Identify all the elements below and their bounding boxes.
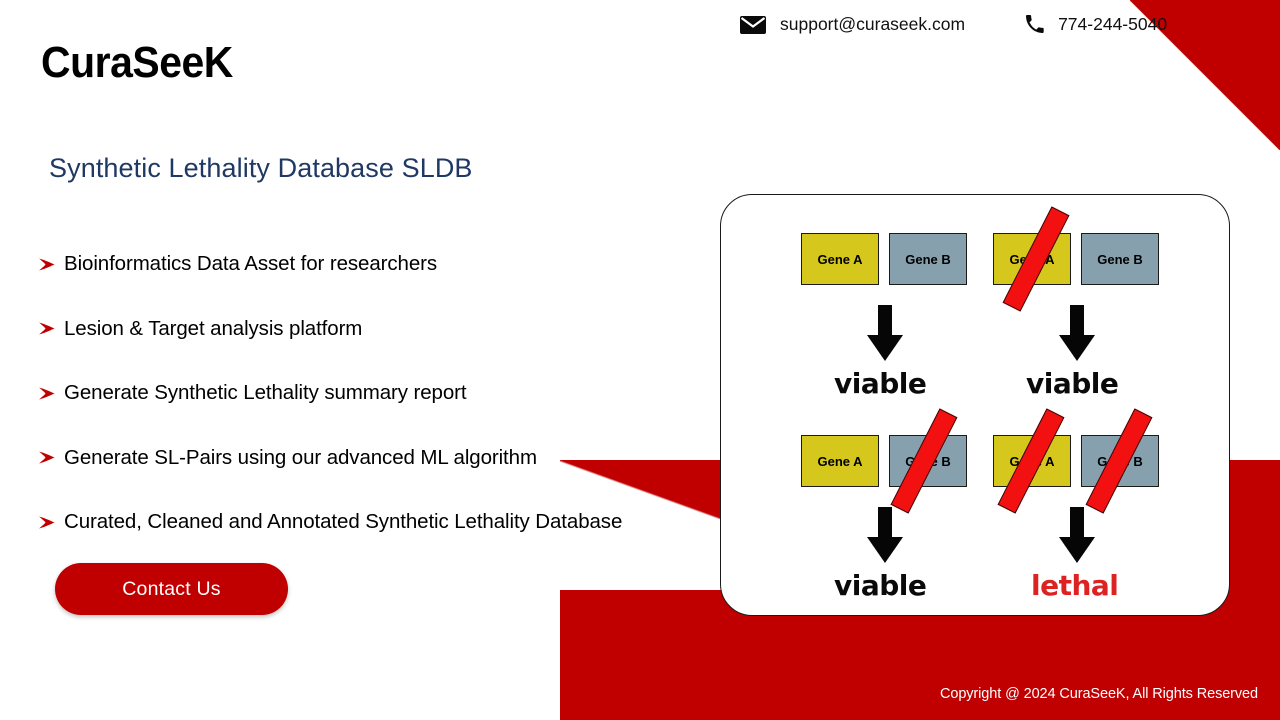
list-item-label: Curated, Cleaned and Annotated Synthetic… [64, 510, 622, 534]
contact-us-button[interactable]: Contact Us [55, 563, 288, 615]
phone-icon [1025, 15, 1044, 34]
feature-bullet-list: Bioinformatics Data Asset for researcher… [38, 232, 698, 555]
list-item: Bioinformatics Data Asset for researcher… [38, 232, 698, 297]
contact-phone-text: 774-244-5040 [1058, 14, 1167, 35]
list-item-label: Bioinformatics Data Asset for researcher… [64, 252, 437, 276]
arrow-bullet-icon [38, 450, 64, 465]
q2-gene-b-box: Gene B [1081, 233, 1159, 285]
envelope-icon [740, 16, 766, 34]
q3-gene-a-box: Gene A [801, 435, 879, 487]
arrow-bullet-icon [38, 321, 64, 336]
synthetic-lethality-diagram-card: Gene A Gene B viable Gene A Gene B viabl… [720, 194, 1230, 616]
q1-gene-a-box: Gene A [801, 233, 879, 285]
footer-copyright: Copyright @ 2024 CuraSeeK, All Rights Re… [940, 686, 1258, 702]
list-item: Generate SL-Pairs using our advanced ML … [38, 426, 698, 491]
q4-outcome-label: lethal [1031, 569, 1118, 602]
arrow-bullet-icon [38, 257, 64, 272]
list-item-label: Generate Synthetic Lethality summary rep… [64, 381, 466, 405]
q1-outcome-label: viable [834, 367, 926, 400]
arrow-bullet-icon [38, 515, 64, 530]
q2-outcome-label: viable [1026, 367, 1118, 400]
q1-arrow-down-icon [867, 305, 903, 361]
list-item-label: Lesion & Target analysis platform [64, 317, 362, 341]
q1-gene-b-box: Gene B [889, 233, 967, 285]
q2-arrow-down-icon [1059, 305, 1095, 361]
arrow-bullet-icon [38, 386, 64, 401]
page-title: Synthetic Lethality Database SLDB [49, 153, 473, 184]
list-item: Lesion & Target analysis platform [38, 297, 698, 362]
contact-phone[interactable]: 774-244-5040 [1025, 14, 1167, 35]
contact-email-text: support@curaseek.com [780, 14, 965, 35]
q3-arrow-down-icon [867, 507, 903, 563]
brand-logo: CuraSeeK [41, 38, 233, 88]
q4-arrow-down-icon [1059, 507, 1095, 563]
diagram-inner: Gene A Gene B viable Gene A Gene B viabl… [721, 195, 1230, 616]
contact-bar: support@curaseek.com 774-244-5040 [740, 14, 1167, 35]
list-item: Generate Synthetic Lethality summary rep… [38, 361, 698, 426]
q3-outcome-label: viable [834, 569, 926, 602]
list-item-label: Generate SL-Pairs using our advanced ML … [64, 446, 537, 470]
list-item: Curated, Cleaned and Annotated Synthetic… [38, 490, 698, 555]
contact-email[interactable]: support@curaseek.com [740, 14, 965, 35]
